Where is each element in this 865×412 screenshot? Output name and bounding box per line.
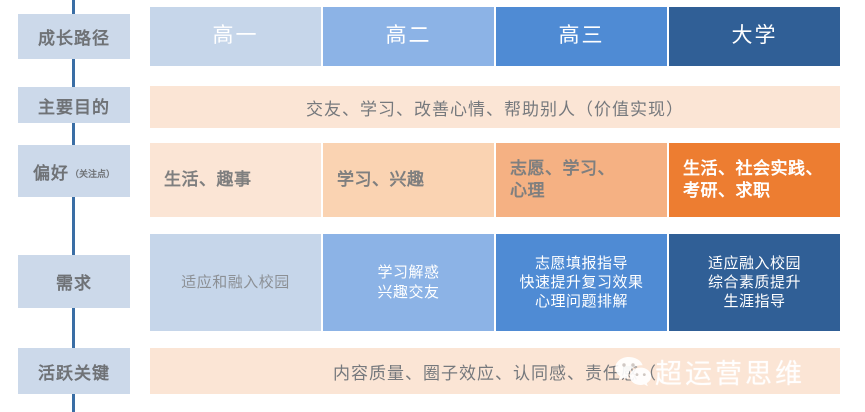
- rail-segment-3: [72, 197, 75, 255]
- stage-header-1[interactable]: 高一: [150, 7, 321, 66]
- preference-text: 学习、兴趣: [337, 169, 425, 191]
- stage-header-label: 高三: [559, 23, 605, 50]
- stage-header-label: 高一: [213, 23, 259, 50]
- row-label-text: 偏好: [33, 159, 69, 184]
- rail-segment-1: [72, 59, 75, 87]
- need-cell-4[interactable]: 适应融入校园 综合素质提升 生涯指导: [669, 234, 840, 331]
- row-label-text: 成长路径: [38, 24, 110, 49]
- row-label-demand[interactable]: 需求: [18, 255, 130, 308]
- rail-segment-bottom: [72, 394, 75, 412]
- need-text: 适应融入校园 综合素质提升 生涯指导: [708, 254, 801, 312]
- stage-header-label: 大学: [732, 23, 778, 50]
- active-key-text: 内容质量、圈子效应、认同感、责任感（: [333, 359, 657, 384]
- preference-text: 生活、社会实践、 考研、求职: [683, 158, 823, 202]
- row-label-active-key[interactable]: 活跃关键: [18, 348, 130, 394]
- rail-segment-4: [72, 308, 75, 348]
- main-purpose-band: 交友、学习、改善心情、帮助别人（价值实现）: [150, 86, 840, 128]
- preference-cell-2[interactable]: 学习、兴趣: [323, 143, 494, 217]
- preference-cell-4[interactable]: 生活、社会实践、 考研、求职: [669, 143, 840, 217]
- row-label-text: 主要目的: [38, 93, 110, 118]
- stage-header-4[interactable]: 大学: [669, 7, 840, 66]
- rail-segment-top: [72, 0, 75, 14]
- stage-header-2[interactable]: 高二: [323, 7, 494, 66]
- row-label-text: 活跃关键: [38, 359, 110, 384]
- need-text: 志愿填报指导 快速提升复习效果 心理问题排解: [519, 254, 643, 312]
- rail-segment-2: [72, 123, 75, 145]
- row-label-preference[interactable]: 偏好（关注点）: [18, 145, 130, 197]
- preference-cell-1[interactable]: 生活、趣事: [150, 143, 321, 217]
- row-label-text: 需求: [56, 269, 92, 294]
- main-purpose-text: 交友、学习、改善心情、帮助别人（价值实现）: [306, 95, 684, 120]
- need-text: 学习解惑 兴趣交友: [377, 263, 439, 301]
- active-key-band: 内容质量、圈子效应、认同感、责任感（: [150, 348, 840, 394]
- stage-header-label: 高二: [386, 23, 432, 50]
- diagram-canvas: 成长路径 主要目的 偏好（关注点） 需求 活跃关键 高一 高二 高三 大学 交友…: [0, 0, 865, 412]
- row-label-main-purpose[interactable]: 主要目的: [18, 87, 130, 123]
- preference-text: 生活、趣事: [164, 169, 252, 191]
- preference-text: 志愿、学习、 心理: [510, 158, 615, 202]
- row-label-subtext: （关注点）: [70, 167, 115, 180]
- need-text: 适应和融入校园: [181, 273, 290, 292]
- need-cell-3[interactable]: 志愿填报指导 快速提升复习效果 心理问题排解: [496, 234, 667, 331]
- row-label-growth-path[interactable]: 成长路径: [18, 14, 130, 59]
- stage-header-3[interactable]: 高三: [496, 7, 667, 66]
- need-cell-2[interactable]: 学习解惑 兴趣交友: [323, 234, 494, 331]
- need-cell-1[interactable]: 适应和融入校园: [150, 234, 321, 331]
- preference-cell-3[interactable]: 志愿、学习、 心理: [496, 143, 667, 217]
